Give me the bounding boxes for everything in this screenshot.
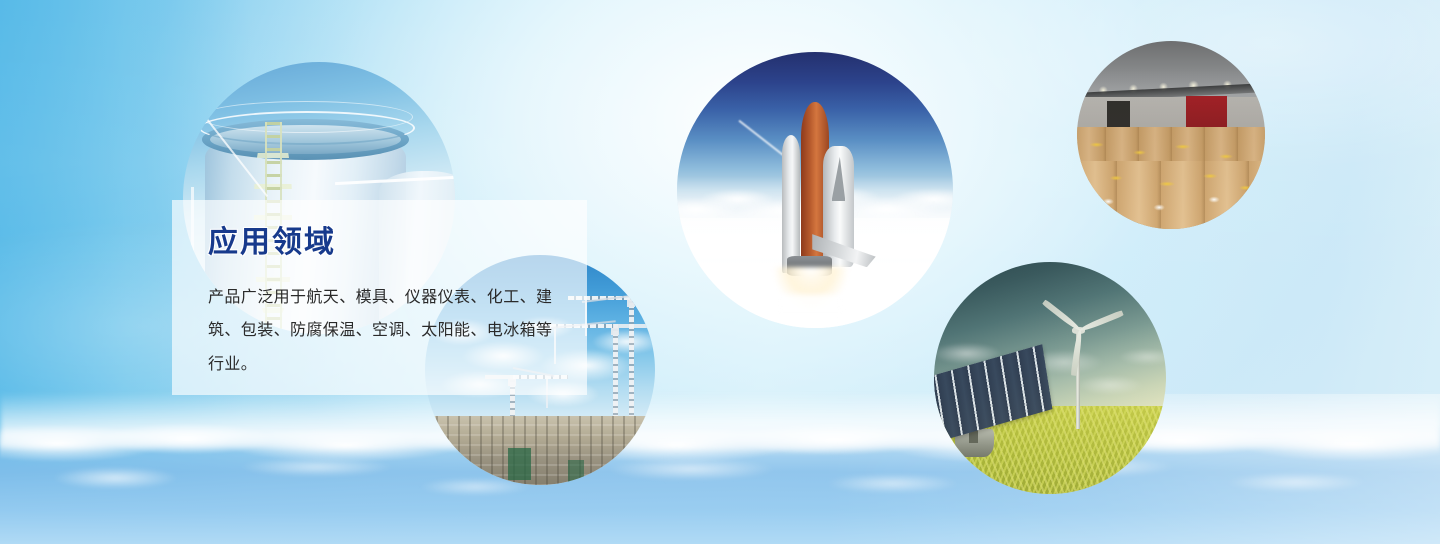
application-fields-banner: 应用领域 产品广泛用于航天、模具、仪器仪表、化工、建筑、包装、防腐保温、空调、太…: [0, 0, 1440, 544]
application-fields-panel: 应用领域 产品广泛用于航天、模具、仪器仪表、化工、建筑、包装、防腐保温、空调、太…: [172, 200, 587, 395]
crane-cab: [627, 300, 635, 307]
cloud-sea: [0, 394, 1440, 544]
shuttle-exhaust-plume: [776, 295, 845, 328]
circle-warehouse: [1077, 41, 1265, 229]
construction-safety-net: [508, 448, 531, 480]
page-title: 应用领域: [208, 226, 557, 259]
energy-color-grade: [934, 262, 1166, 494]
solar-wind-photo: [934, 262, 1166, 494]
description-text: 产品广泛用于航天、模具、仪器仪表、化工、建筑、包装、防腐保温、空调、太阳能、电冰…: [208, 281, 557, 381]
warehouse-photo: [1077, 41, 1265, 229]
shuttle-solid-rocket-booster: [782, 135, 800, 273]
space-shuttle-photo: [677, 52, 953, 328]
construction-safety-net-2: [568, 460, 584, 483]
construction-building-detail: [425, 416, 655, 485]
circle-space-shuttle: [677, 52, 953, 328]
warehouse-color-tint: [1077, 41, 1265, 229]
circle-solar-wind-energy: [934, 262, 1166, 494]
